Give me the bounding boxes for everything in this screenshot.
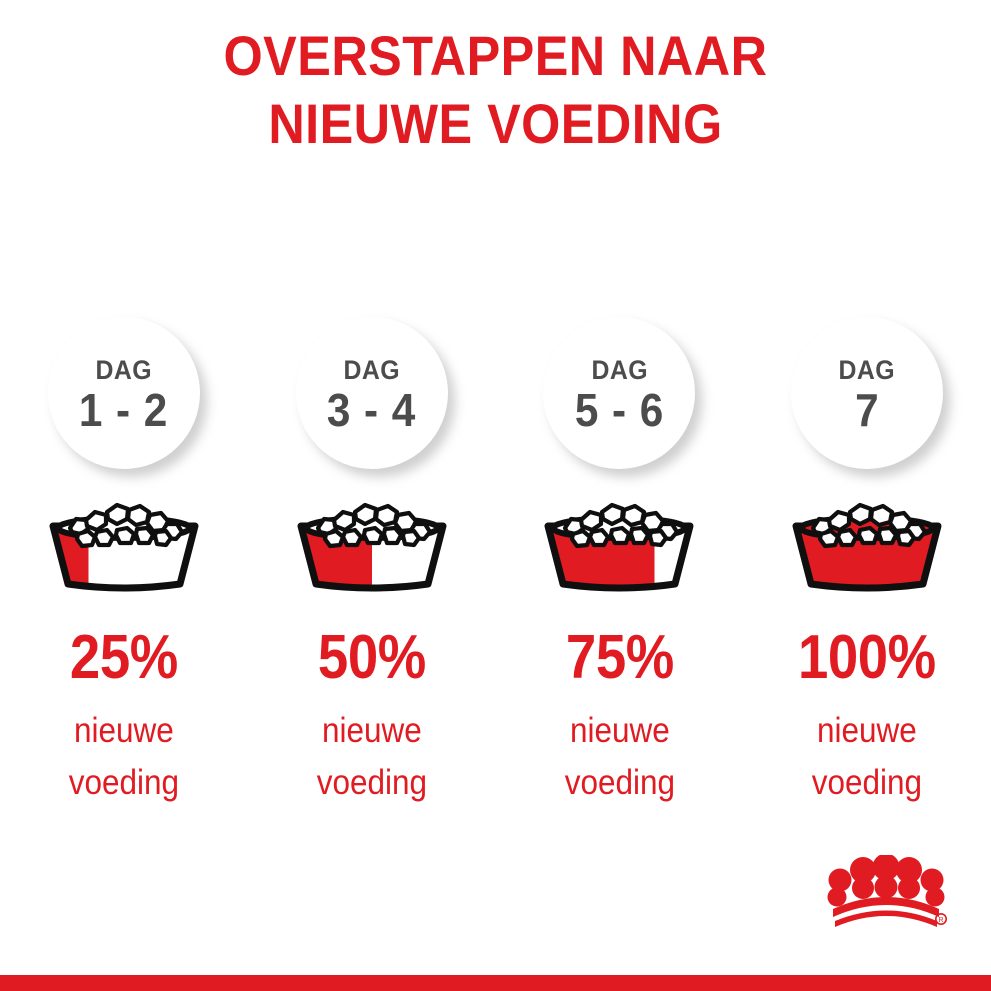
percent-value-1: 25% — [15, 625, 233, 691]
day-badge-wrap-3: DAG 5 - 6 — [496, 317, 744, 482]
percent-sub-line1-4: nieuwe — [756, 705, 979, 757]
percent-sub-line1-1: nieuwe — [12, 705, 235, 757]
percent-block-4: 100% nieuwe voeding — [743, 625, 991, 809]
transition-steps: DAG 1 - 2 — [0, 305, 991, 865]
percent-sub-line2-3: voeding — [508, 757, 731, 809]
registered-mark-icon: R — [936, 914, 946, 924]
day-badge-1: DAG 1 - 2 — [48, 317, 200, 469]
day-badge-wrap-4: DAG 7 — [743, 317, 991, 482]
percent-value-3: 75% — [510, 625, 728, 691]
day-badge-value-2: 3 - 4 — [327, 385, 416, 435]
day-badge-label-1: DAG — [96, 355, 153, 385]
day-badge-label-2: DAG — [343, 355, 400, 385]
day-badge-4: DAG 7 — [791, 317, 943, 469]
day-badge-wrap-1: DAG 1 - 2 — [0, 317, 248, 482]
day-badge-value-1: 1 - 2 — [79, 385, 168, 435]
percent-block-1: 25% nieuwe voeding — [0, 625, 248, 809]
bowl-wrap-2 — [248, 490, 496, 600]
percent-block-2: 50% nieuwe voeding — [248, 625, 496, 809]
day-badge-wrap-2: DAG 3 - 4 — [248, 317, 496, 482]
food-bowl-icon-75 — [521, 490, 717, 594]
title-line-1: OVERSTAPPEN NAAR — [50, 22, 942, 90]
day-badge-2: DAG 3 - 4 — [296, 317, 448, 469]
transition-step-3: DAG 5 - 6 — [496, 305, 744, 865]
food-bowl-icon-25 — [26, 490, 222, 594]
transition-step-4: DAG 7 — [743, 305, 991, 865]
day-badge-value-4: 7 — [855, 385, 879, 435]
percent-sub-line2-1: voeding — [12, 757, 235, 809]
percent-value-2: 50% — [263, 625, 481, 691]
percent-block-3: 75% nieuwe voeding — [496, 625, 744, 809]
bowl-wrap-1 — [0, 490, 248, 600]
food-bowl-icon-50 — [274, 490, 470, 594]
crown-icon: R — [823, 855, 949, 933]
svg-text:R: R — [938, 917, 943, 924]
day-badge-value-3: 5 - 6 — [575, 385, 664, 435]
transition-guide-poster: OVERSTAPPEN NAAR NIEUWE VOEDING DAG 1 - … — [0, 0, 991, 991]
transition-step-2: DAG 3 - 4 — [248, 305, 496, 865]
footer-accent-bar — [0, 975, 991, 991]
transition-step-1: DAG 1 - 2 — [0, 305, 248, 865]
day-badge-label-4: DAG — [839, 355, 896, 385]
royal-canin-crown-logo: R — [823, 855, 949, 933]
title-line-2: NIEUWE VOEDING — [50, 90, 942, 158]
percent-value-4: 100% — [758, 625, 976, 691]
percent-sub-line2-4: voeding — [756, 757, 979, 809]
percent-sub-line2-2: voeding — [260, 757, 483, 809]
food-bowl-icon-100 — [769, 490, 965, 594]
page-title: OVERSTAPPEN NAAR NIEUWE VOEDING — [0, 22, 991, 158]
bowl-wrap-3 — [496, 490, 744, 600]
day-badge-label-3: DAG — [591, 355, 648, 385]
percent-sub-line1-2: nieuwe — [260, 705, 483, 757]
day-badge-3: DAG 5 - 6 — [543, 317, 695, 469]
bowl-wrap-4 — [743, 490, 991, 600]
percent-sub-line1-3: nieuwe — [508, 705, 731, 757]
